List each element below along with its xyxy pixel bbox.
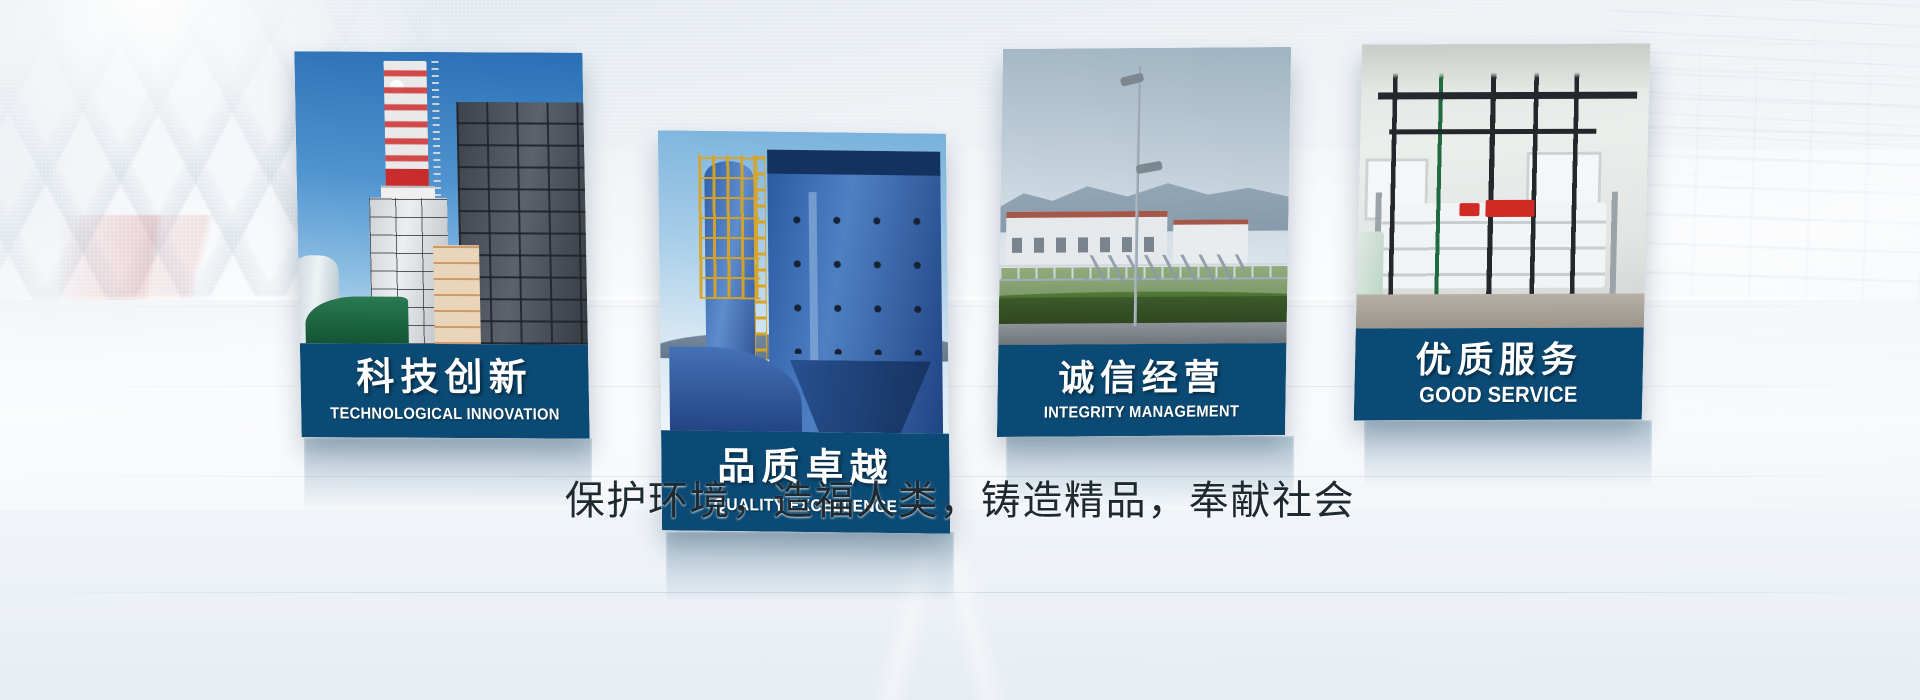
card-title-en-4: GOOD SERVICE bbox=[1419, 382, 1578, 407]
card-caption-integrity-management: 诚信经营 INTEGRITY MANAGEMENT bbox=[997, 343, 1287, 437]
card-photo-quality-excellence bbox=[658, 130, 949, 434]
card-title-cn-3: 诚信经营 bbox=[1058, 358, 1226, 397]
card-caption-good-service: 优质服务 GOOD SERVICE bbox=[1354, 327, 1644, 420]
feature-card-list: 科技创新 TECHNOLOGICAL INNOVATION bbox=[0, 0, 1920, 700]
banner-stage: 科技创新 TECHNOLOGICAL INNOVATION bbox=[0, 0, 1920, 700]
card-reflection-2 bbox=[666, 532, 954, 604]
card-title-cn-4: 优质服务 bbox=[1415, 341, 1583, 379]
card-photo-good-service bbox=[1356, 44, 1651, 329]
feature-card-technological-innovation[interactable]: 科技创新 TECHNOLOGICAL INNOVATION bbox=[294, 51, 589, 438]
banner-tagline: 保护环境，造福人类，铸造精品，奉献社会 bbox=[0, 468, 1920, 526]
card-title-en-3: INTEGRITY MANAGEMENT bbox=[1043, 403, 1239, 422]
card-title-cn-1: 科技创新 bbox=[356, 358, 533, 399]
card-photo-integrity-management bbox=[998, 47, 1291, 345]
card-photo-technological-innovation bbox=[294, 51, 588, 344]
feature-card-good-service[interactable]: 优质服务 GOOD SERVICE bbox=[1354, 44, 1651, 421]
card-title-en-1: TECHNOLOGICAL INNOVATION bbox=[330, 405, 560, 424]
card-caption-technological-innovation: 科技创新 TECHNOLOGICAL INNOVATION bbox=[300, 343, 590, 438]
feature-card-integrity-management[interactable]: 诚信经营 INTEGRITY MANAGEMENT bbox=[997, 47, 1291, 437]
